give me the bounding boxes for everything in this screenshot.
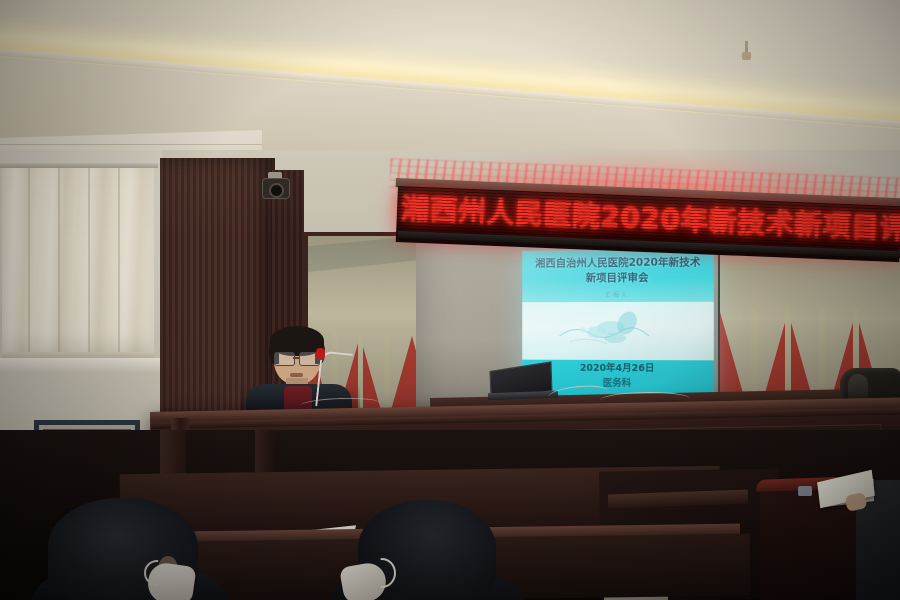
slide-title-line-1: 湘西自治州人民医院2020年新技术	[530, 255, 706, 271]
photo-scene: 湘西自治州人民医院2020年新技术 新项目评审会 汇报人 2020年4月26日 …	[0, 0, 900, 600]
slide-title-line-2: 新项目评审会	[530, 270, 706, 286]
person-holding-documents	[846, 452, 900, 600]
audience-member-left	[30, 498, 220, 600]
audience-member-right	[336, 500, 516, 600]
lotus-flower-graphic	[550, 306, 680, 354]
sprinkler-icon	[742, 41, 751, 61]
microphone-head-icon	[316, 348, 325, 360]
window-curtain	[2, 168, 154, 358]
eyeglasses-icon	[274, 352, 295, 366]
slide-title: 湘西自治州人民医院2020年新技术 新项目评审会	[530, 255, 706, 286]
slide-subtitle: 汇报人	[522, 290, 714, 300]
chair-badge-icon	[798, 486, 812, 496]
window-sill	[0, 358, 160, 374]
surveillance-camera-icon	[262, 172, 288, 198]
